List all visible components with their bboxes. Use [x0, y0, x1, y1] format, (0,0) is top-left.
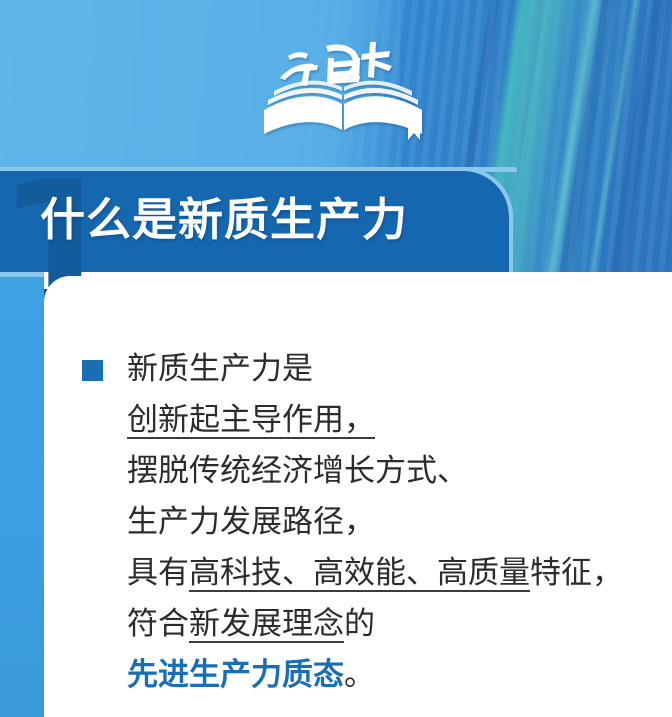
list-item: 摆脱传统经济增长方式、: [127, 446, 662, 497]
content-line-4: 生产力发展路径，: [127, 497, 375, 548]
content-line-7: 先进生产力质态。: [127, 650, 375, 701]
square-bullet-icon: [82, 360, 103, 381]
open-book-icon: [264, 81, 422, 140]
content-line-3: 摆脱传统经济增长方式、: [127, 446, 468, 497]
content-line-2: 创新起主导作用，: [127, 395, 375, 446]
content-line-1: 新质生产力是: [127, 344, 313, 395]
content-body: 新质生产力是 创新起主导作用， 摆脱传统经济增长方式、 生产力发展路径， 具有高…: [82, 344, 662, 701]
page-title: 什么是新质生产力: [40, 192, 408, 248]
list-item: 新质生产力是: [82, 344, 662, 395]
poster-root: 1 什么是新质生产力 新质生产力是 创新起主导作用， 摆脱传统经济增长方式、 生…: [0, 0, 672, 717]
content-line-5: 具有高科技、高效能、高质量特征，: [127, 548, 623, 599]
brand-logo: [258, 34, 428, 144]
list-item: 创新起主导作用，: [127, 395, 662, 446]
list-item: 生产力发展路径，: [127, 497, 662, 548]
logo-wordmark: [280, 42, 392, 86]
left-accent-rail: [0, 272, 44, 717]
list-item: 符合新发展理念的: [127, 599, 662, 650]
content-line-6: 符合新发展理念的: [127, 599, 375, 650]
list-item: 先进生产力质态。: [127, 650, 662, 701]
list-item: 具有高科技、高效能、高质量特征，: [127, 548, 662, 599]
left-accent-rail-cap: [0, 272, 44, 277]
